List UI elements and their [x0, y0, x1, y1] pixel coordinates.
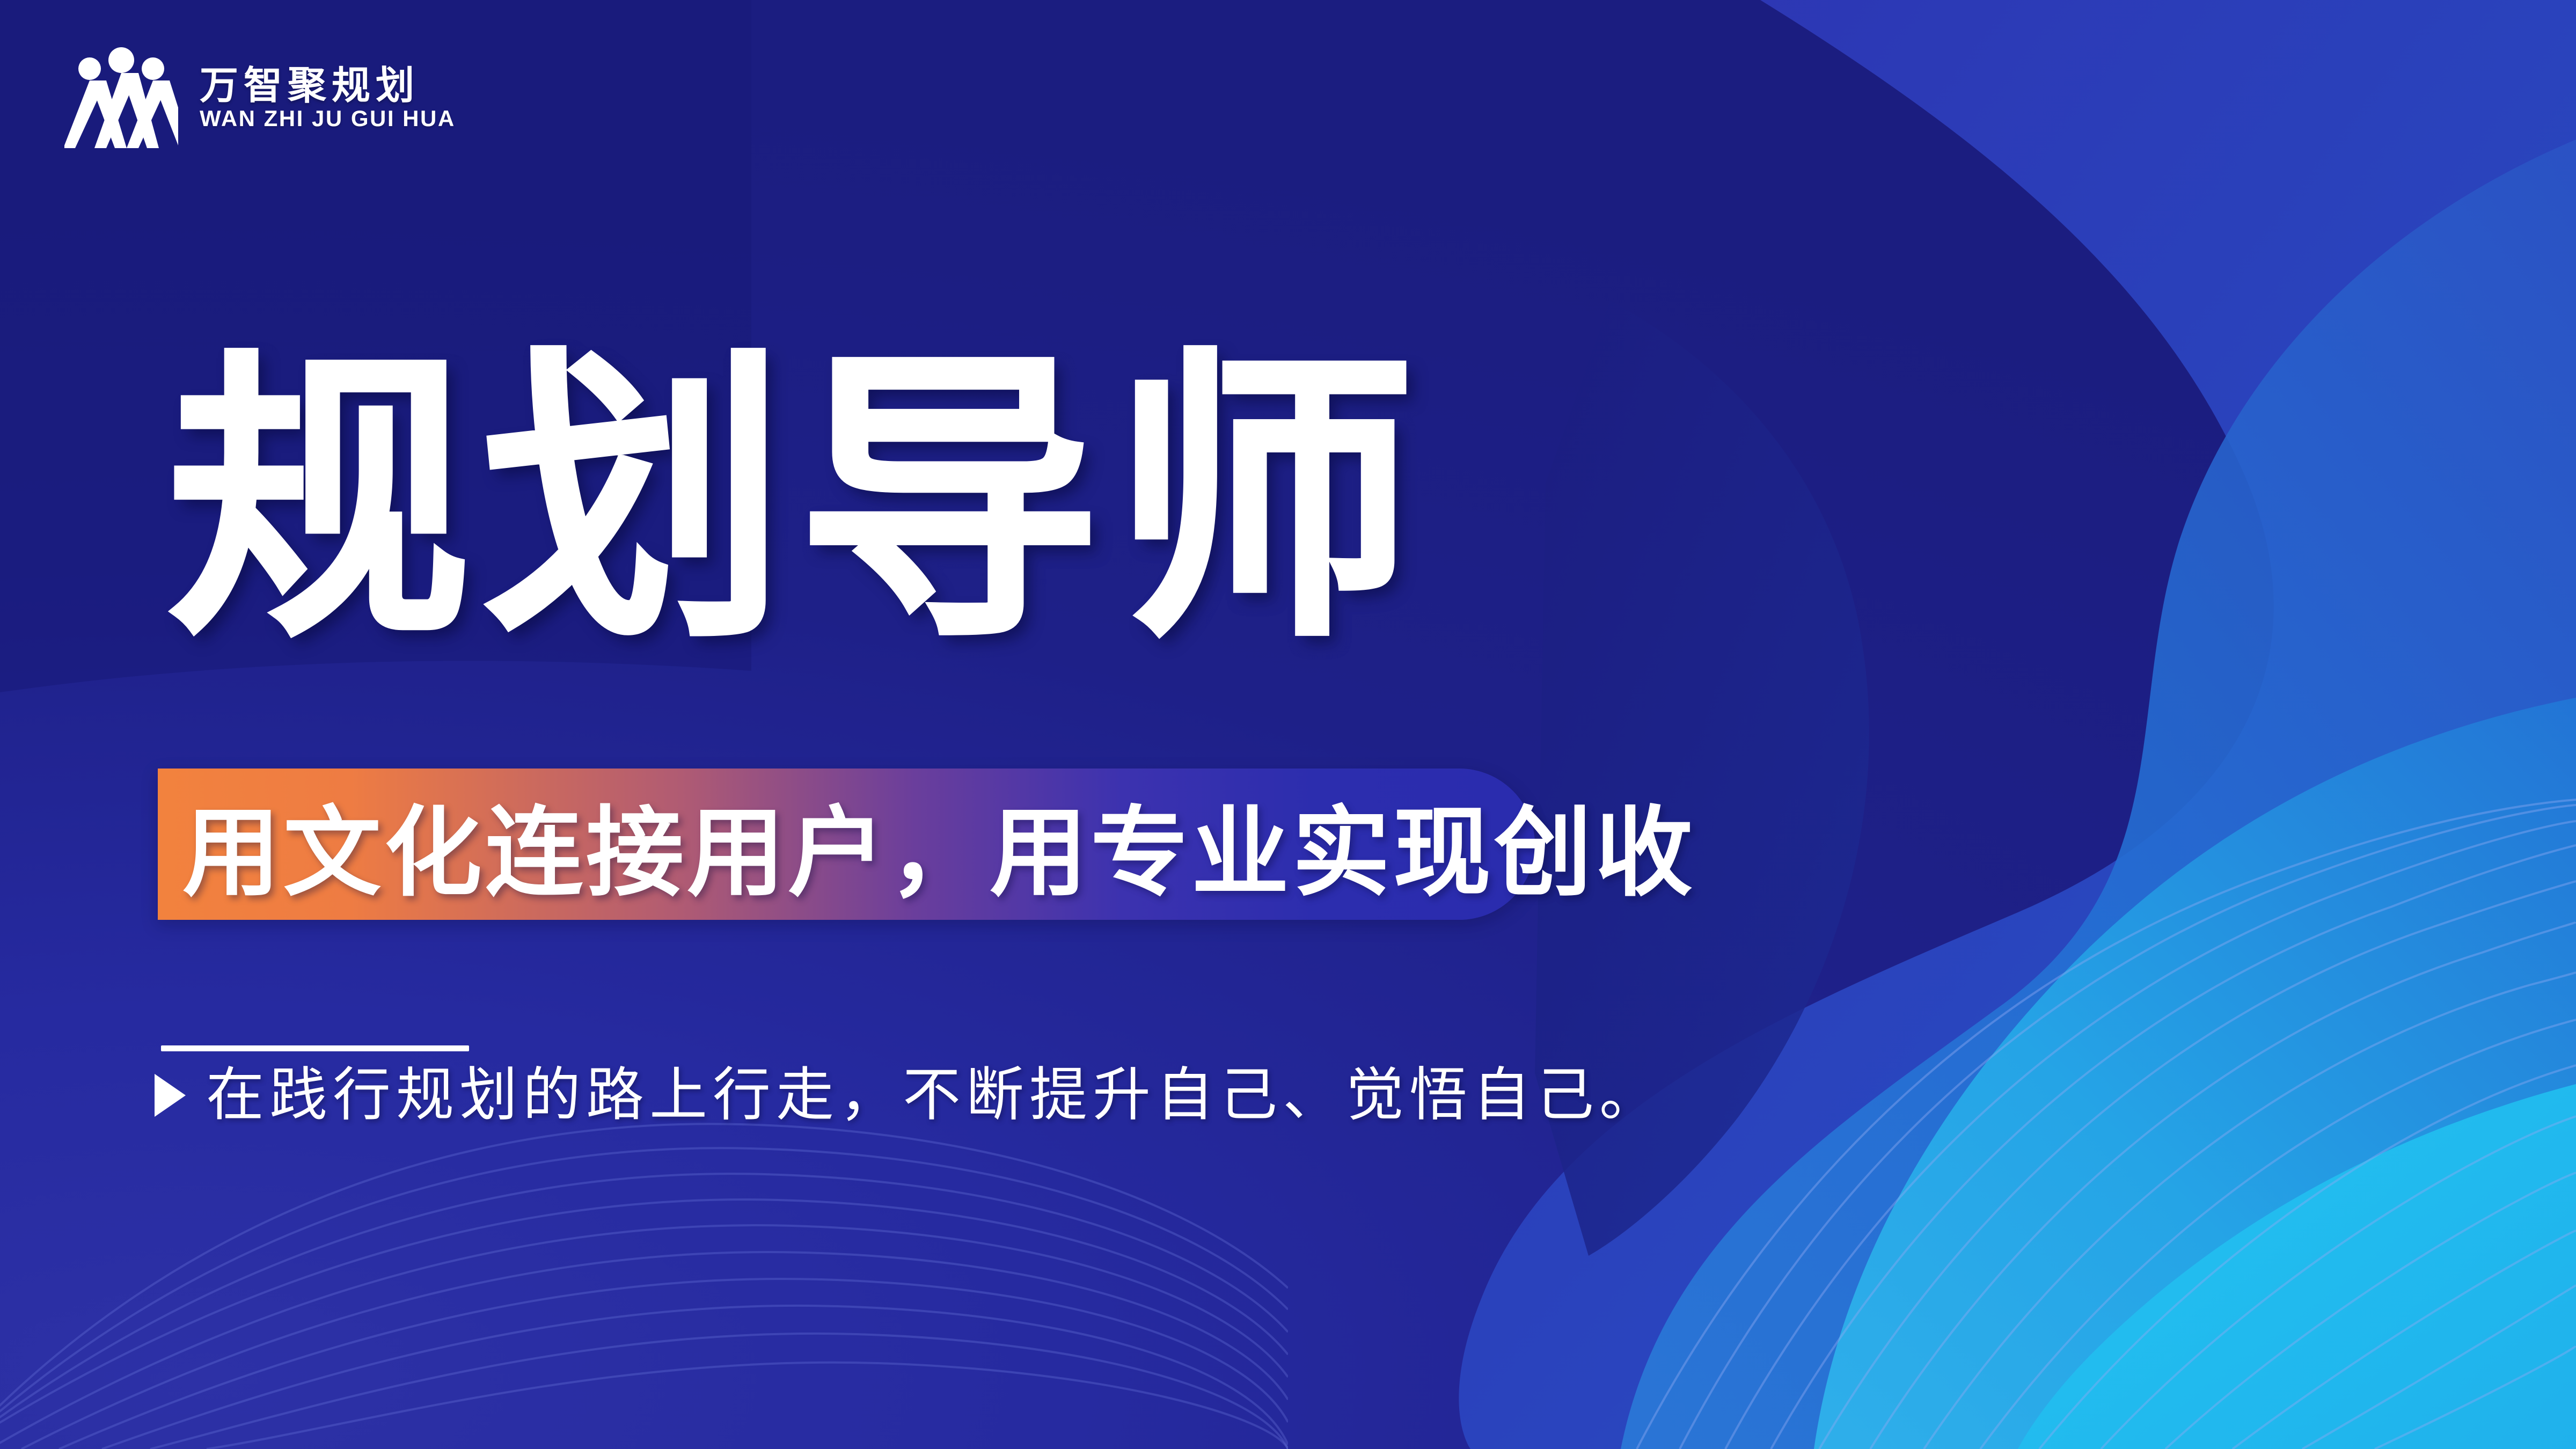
brand-logo[interactable]: 万智聚规划 WAN ZHI JU GUI HUA — [64, 47, 456, 149]
triangle-right-icon — [155, 1074, 186, 1117]
divider-rule — [161, 1045, 469, 1051]
curve-line-pattern-left — [0, 1124, 1288, 1449]
brand-text-block: 万智聚规划 WAN ZHI JU GUI HUA — [200, 67, 456, 130]
tagline-text: 在践行规划的路上行走，不断提升自己、觉悟自己。 — [206, 1064, 1663, 1128]
tagline-row: 在践行规划的路上行走，不断提升自己、觉悟自己。 — [155, 1064, 1663, 1128]
subtitle-text: 用文化连接用户，用专业实现创收 — [182, 777, 1696, 912]
page-title: 规划导师 — [167, 341, 1428, 663]
brand-name-pinyin: WAN ZHI JU GUI HUA — [200, 107, 456, 130]
brand-name-cn: 万智聚规划 — [200, 67, 456, 105]
three-people-mark-icon — [64, 47, 178, 149]
poster-canvas: 万智聚规划 WAN ZHI JU GUI HUA 规划导师 用文化连接用户，用专… — [0, 0, 2576, 1449]
decorative-blobs — [1459, 0, 2576, 1449]
background-decoration — [0, 0, 2576, 1449]
